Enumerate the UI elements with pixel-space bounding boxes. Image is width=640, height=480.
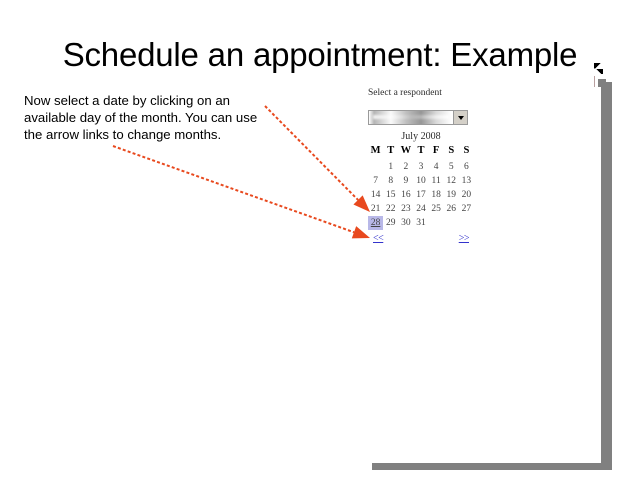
calendar-grid: MTWTFSS 12345678910111213141516171819202… <box>368 145 474 230</box>
calendar-widget: July 2008 MTWTFSS 1234567891011121314151… <box>368 131 474 247</box>
calendar-day-11[interactable]: 11 <box>429 174 444 188</box>
calendar-weekday-3: T <box>413 145 428 160</box>
calendar-day-31[interactable]: 31 <box>413 216 428 230</box>
calendar-day-26[interactable]: 26 <box>444 202 459 216</box>
arrow-to-month-nav <box>113 146 370 238</box>
calendar-weekday-1: T <box>383 145 398 160</box>
calendar-day-6[interactable]: 6 <box>459 160 474 174</box>
calendar-weekday-header-row: MTWTFSS <box>368 145 474 160</box>
cursor-artifact-icon <box>594 63 603 74</box>
calendar-navigation: << >> <box>368 233 474 247</box>
panel-shadow-bottom <box>372 462 612 470</box>
corner-square-artifact <box>598 79 606 87</box>
arrow-to-selected-day-shaft <box>265 106 358 200</box>
calendar-day-21[interactable]: 21 <box>368 202 383 216</box>
calendar-weekday-6: S <box>459 145 474 160</box>
calendar-week-row: 14151617181920 <box>368 188 474 202</box>
calendar-day-4[interactable]: 4 <box>429 160 444 174</box>
calendar-next-month-link[interactable]: >> <box>459 233 469 244</box>
calendar-week-row: 78910111213 <box>368 174 474 188</box>
calendar-day-5[interactable]: 5 <box>444 160 459 174</box>
calendar-day-13[interactable]: 13 <box>459 174 474 188</box>
calendar-day-empty <box>429 216 444 230</box>
calendar-weekday-4: F <box>429 145 444 160</box>
calendar-day-19[interactable]: 19 <box>444 188 459 202</box>
calendar-day-24[interactable]: 24 <box>413 202 428 216</box>
calendar-week-row: 21222324252627 <box>368 202 474 216</box>
calendar-day-7[interactable]: 7 <box>368 174 383 188</box>
calendar-day-3[interactable]: 3 <box>413 160 428 174</box>
respondent-select-value <box>369 111 453 124</box>
calendar-day-25[interactable]: 25 <box>429 202 444 216</box>
calendar-day-15[interactable]: 15 <box>383 188 398 202</box>
instruction-text: Now select a date by clicking on an avai… <box>24 92 266 143</box>
calendar-day-1[interactable]: 1 <box>383 160 398 174</box>
calendar-day-8[interactable]: 8 <box>383 174 398 188</box>
calendar-day-22[interactable]: 22 <box>383 202 398 216</box>
calendar-day-27[interactable]: 27 <box>459 202 474 216</box>
calendar-day-empty <box>444 216 459 230</box>
page-title: Schedule an appointment: Example <box>0 36 640 74</box>
calendar-week-row: 123456 <box>368 160 474 174</box>
arrow-to-month-nav-shaft <box>113 146 354 232</box>
calendar-day-selected[interactable]: 28 <box>368 216 383 230</box>
calendar-day-30[interactable]: 30 <box>398 216 413 230</box>
respondent-select-label: Select a respondent <box>368 88 442 98</box>
calendar-week-row: 28293031 <box>368 216 474 230</box>
calendar-weekday-5: S <box>444 145 459 160</box>
calendar-day-empty <box>459 216 474 230</box>
calendar-day-23[interactable]: 23 <box>398 202 413 216</box>
calendar-day-9[interactable]: 9 <box>398 174 413 188</box>
calendar-day-rows: 1234567891011121314151617181920212223242… <box>368 160 474 230</box>
calendar-weekday-0: M <box>368 145 383 160</box>
calendar-weekday-2: W <box>398 145 413 160</box>
calendar-day-10[interactable]: 10 <box>413 174 428 188</box>
calendar-day-14[interactable]: 14 <box>368 188 383 202</box>
calendar-day-20[interactable]: 20 <box>459 188 474 202</box>
calendar-day-16[interactable]: 16 <box>398 188 413 202</box>
panel-shadow-right <box>601 82 612 470</box>
arrow-to-selected-day <box>265 106 370 212</box>
calendar-day-12[interactable]: 12 <box>444 174 459 188</box>
edge-tick-artifact <box>594 76 595 87</box>
calendar-day-18[interactable]: 18 <box>429 188 444 202</box>
chevron-down-icon[interactable] <box>453 111 467 124</box>
calendar-day-29[interactable]: 29 <box>383 216 398 230</box>
respondent-select[interactable] <box>368 110 468 125</box>
calendar-day-17[interactable]: 17 <box>413 188 428 202</box>
calendar-day-2[interactable]: 2 <box>398 160 413 174</box>
calendar-day-empty <box>368 160 383 174</box>
calendar-prev-month-link[interactable]: << <box>373 233 383 244</box>
calendar-month-label: July 2008 <box>368 131 474 142</box>
